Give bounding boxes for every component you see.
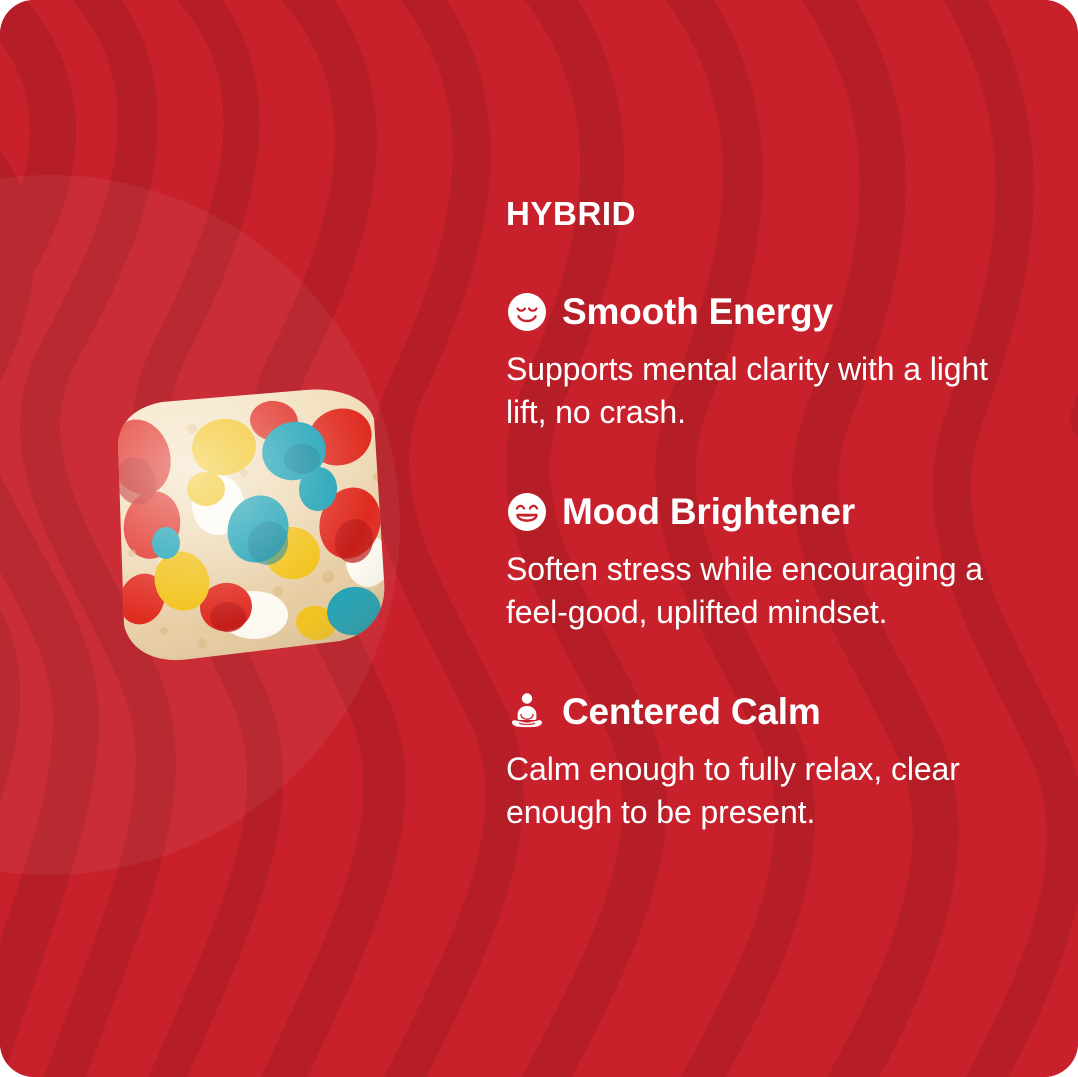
relieved-face-icon xyxy=(506,291,548,333)
benefit-item: Mood Brightener Soften stress while enco… xyxy=(506,491,1026,633)
benefit-title: Mood Brightener xyxy=(562,492,855,533)
product-image xyxy=(78,385,408,670)
strain-type-label: HYBRID xyxy=(506,196,1026,233)
benefit-item: Smooth Energy Supports mental clarity wi… xyxy=(506,291,1026,433)
benefit-header: Mood Brightener xyxy=(506,491,1026,533)
benefit-header: Centered Calm xyxy=(506,691,1026,733)
benefit-title: Centered Calm xyxy=(562,692,821,733)
product-benefits-card: HYBRID Smooth Energy Supports mental cla… xyxy=(0,0,1078,1077)
benefit-header: Smooth Energy xyxy=(506,291,1026,333)
benefit-description: Supports mental clarity with a light lif… xyxy=(506,348,1021,433)
benefit-item: Centered Calm Calm enough to fully relax… xyxy=(506,691,1026,833)
grinning-face-icon xyxy=(506,491,548,533)
benefits-content: HYBRID Smooth Energy Supports mental cla… xyxy=(506,196,1026,833)
benefit-title: Smooth Energy xyxy=(562,292,833,333)
meditating-person-icon xyxy=(506,691,548,733)
cereal-treat-illustration xyxy=(78,385,408,670)
benefit-description: Calm enough to fully relax, clear enough… xyxy=(506,748,1021,833)
benefit-description: Soften stress while encouraging a feel-g… xyxy=(506,548,1021,633)
